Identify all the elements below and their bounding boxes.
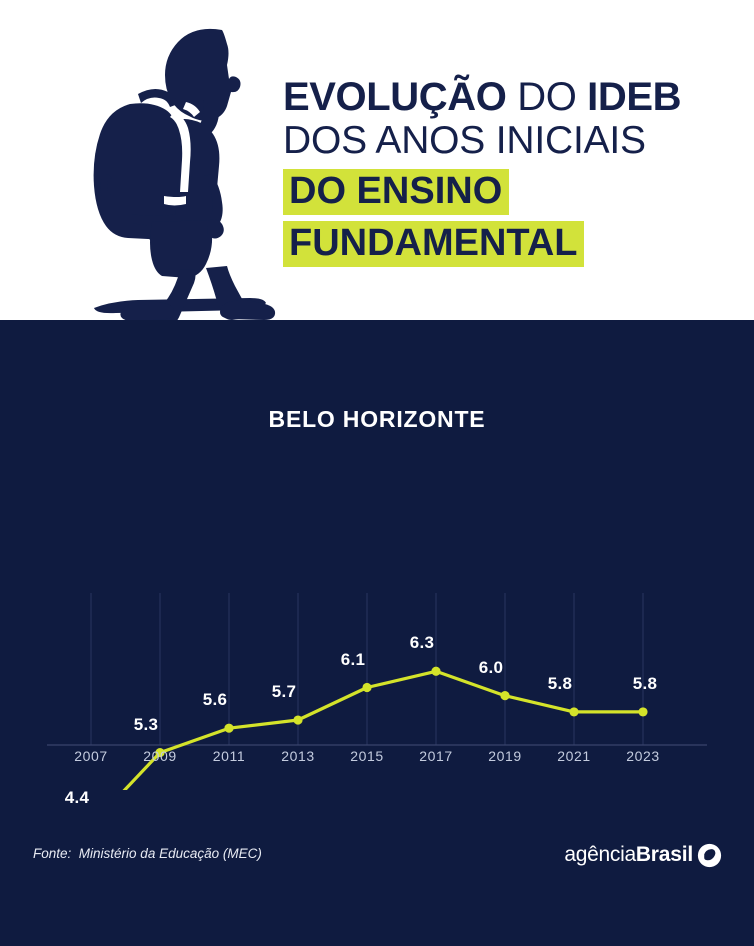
value-label-2019: 6.0 (479, 658, 504, 678)
value-label-2023: 5.8 (633, 674, 658, 694)
x-tick-label-2007: 2007 (74, 748, 108, 764)
chart-gridlines (91, 593, 643, 745)
infographic-poster: EVOLUÇÃO DO IDEB DOS ANOS INICIAIS DO EN… (0, 0, 754, 946)
title-line-4: FUNDAMENTAL (283, 221, 713, 267)
data-point-2011[interactable] (224, 724, 233, 733)
x-tick-label-2023: 2023 (626, 748, 660, 764)
data-point-2021[interactable] (569, 707, 578, 716)
source-value: Ministério da Educação (MEC) (79, 846, 262, 861)
value-label-2007: 4.4 (65, 788, 90, 808)
agencia-brasil-logo[interactable]: agênciaBrasil (564, 840, 722, 870)
title-evolucao: EVOLUÇÃO (283, 75, 506, 119)
x-tick-label-2015: 2015 (350, 748, 384, 764)
x-tick-label-2009: 2009 (143, 748, 177, 764)
title-do: DO (517, 75, 576, 119)
x-tick-label-2011: 2011 (213, 748, 246, 764)
title-line-1: EVOLUÇÃO DO IDEB (283, 76, 713, 118)
x-tick-label-2017: 2017 (419, 748, 453, 764)
brand-agencia-text: agência (564, 843, 635, 867)
title-line-3: DO ENSINO (283, 169, 713, 215)
data-point-2023[interactable] (638, 707, 647, 716)
title-ideb: IDEB (587, 75, 681, 119)
value-label-2017: 6.3 (410, 633, 435, 653)
value-label-2021: 5.8 (548, 674, 573, 694)
x-tick-label-2019: 2019 (488, 748, 522, 764)
source-credit: Fonte: Ministério da Educação (MEC) (33, 846, 262, 861)
x-axis-labels: 200720092011201320152017201920212023 (0, 748, 754, 782)
x-tick-label-2013: 2013 (281, 748, 315, 764)
title-line-4-highlight: FUNDAMENTAL (283, 221, 584, 267)
data-point-2015[interactable] (362, 683, 371, 692)
ideb-line-chart: 200720092011201320152017201920212023 4.4… (0, 450, 754, 790)
city-subtitle: BELO HORIZONTE (0, 406, 754, 433)
schoolboy-with-backpack-silhouette-icon (60, 16, 300, 320)
title-line-3-highlight: DO ENSINO (283, 169, 509, 215)
data-point-2019[interactable] (500, 691, 509, 700)
value-label-2011: 5.6 (203, 690, 228, 710)
agencia-brasil-logo-mark-icon (697, 843, 722, 868)
value-label-2015: 6.1 (341, 650, 366, 670)
footer: Fonte: Ministério da Educação (MEC) agên… (0, 830, 754, 890)
value-label-2009: 5.3 (134, 715, 159, 735)
source-label: Fonte: (33, 846, 71, 861)
chart-svg (0, 450, 754, 790)
page-title: EVOLUÇÃO DO IDEB DOS ANOS INICIAIS DO EN… (283, 76, 713, 267)
x-tick-label-2021: 2021 (557, 748, 591, 764)
header-band: EVOLUÇÃO DO IDEB DOS ANOS INICIAIS DO EN… (0, 0, 754, 320)
brand-brasil-text: Brasil (636, 843, 693, 867)
data-point-2017[interactable] (431, 667, 440, 676)
value-label-2013: 5.7 (272, 682, 297, 702)
data-point-2013[interactable] (293, 715, 302, 724)
chart-panel: BELO HORIZONTE 2007200920112013201520172… (0, 320, 754, 946)
title-line-2: DOS ANOS INICIAIS (283, 120, 713, 161)
